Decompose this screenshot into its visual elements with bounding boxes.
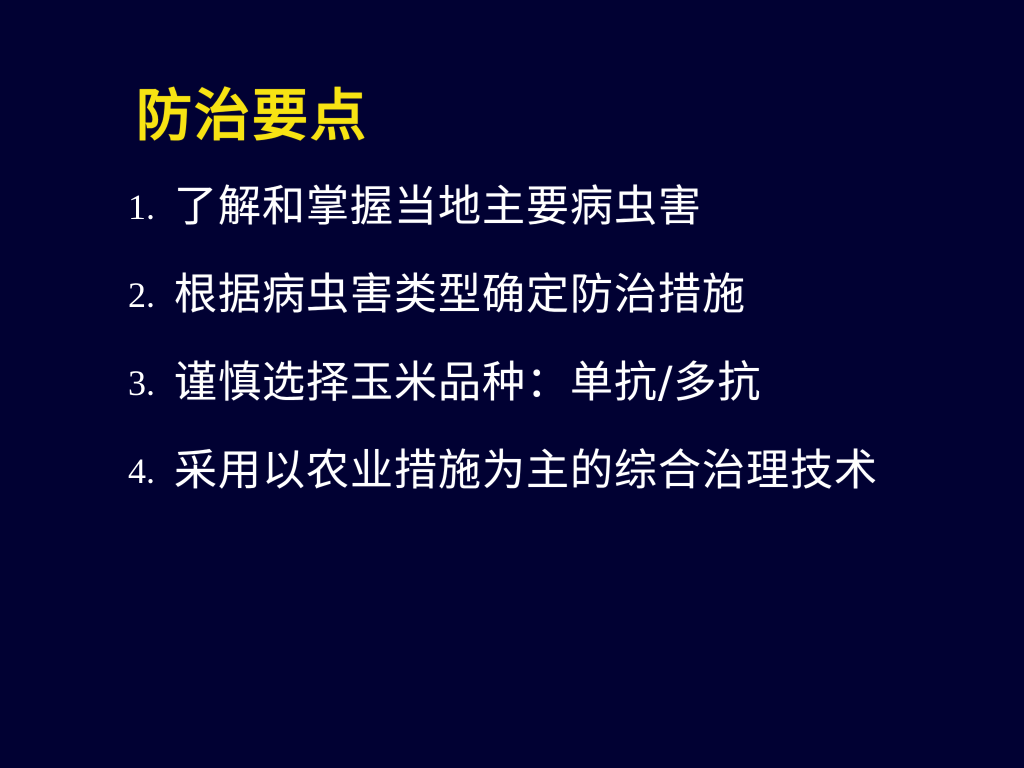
numbered-bullet-list: 1. 了解和掌握当地主要病虫害 2. 根据病虫害类型确定防治措施 3. 谨慎选择… (128, 176, 958, 502)
list-item-number: 3. (128, 352, 174, 414)
list-item-number: 1. (128, 176, 174, 238)
list-item-text: 了解和掌握当地主要病虫害 (174, 176, 958, 238)
list-item-number: 4. (128, 440, 174, 502)
list-item-number: 2. (128, 264, 174, 326)
list-item: 4. 采用以农业措施为主的综合治理技术 (128, 440, 958, 502)
list-item-text: 谨慎选择玉米品种：单抗/多抗 (174, 352, 958, 414)
list-item-text: 采用以农业措施为主的综合治理技术 (174, 440, 958, 502)
list-item-text: 根据病虫害类型确定防治措施 (174, 264, 958, 326)
list-item: 1. 了解和掌握当地主要病虫害 (128, 176, 958, 238)
presentation-slide: 防治要点 1. 了解和掌握当地主要病虫害 2. 根据病虫害类型确定防治措施 3.… (0, 0, 1024, 768)
list-item: 2. 根据病虫害类型确定防治措施 (128, 264, 958, 326)
list-item: 3. 谨慎选择玉米品种：单抗/多抗 (128, 352, 958, 414)
page-title: 防治要点 (136, 84, 368, 150)
